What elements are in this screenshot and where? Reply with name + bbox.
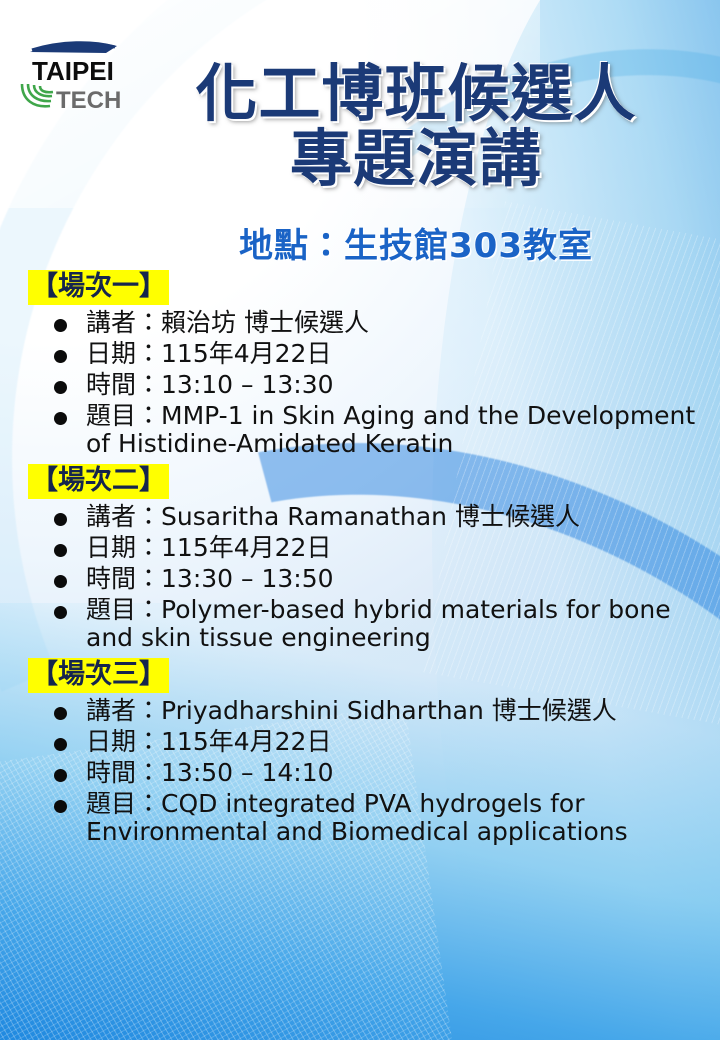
topic-value: MMP-1 in Skin Aging and the Development …: [86, 401, 695, 458]
session-details-3: 講者：Priyadharshini Sidharthan 博士候選人 日期：11…: [28, 697, 710, 846]
session-block-1: 【場次一】 講者：賴治坊 博士候選人 日期：115年4月22日 時間：13:10…: [0, 270, 720, 458]
list-item-speaker: 講者：Susaritha Ramanathan 博士候選人: [42, 503, 710, 531]
list-item-time: 時間：13:50 – 14:10: [42, 759, 710, 787]
date-label: 日期：: [86, 533, 161, 562]
logo-text-taipei: TAIPEI: [32, 56, 114, 86]
list-item-topic: 題目：MMP-1 in Skin Aging and the Developme…: [42, 402, 710, 458]
time-label: 時間：: [86, 370, 161, 399]
time-label: 時間：: [86, 564, 161, 593]
list-item-date: 日期：115年4月22日: [42, 728, 710, 756]
topic-value: CQD integrated PVA hydrogels for Environ…: [86, 789, 628, 846]
date-value: 115年4月22日: [161, 339, 331, 368]
session-details-1: 講者：賴治坊 博士候選人 日期：115年4月22日 時間：13:10 – 13:…: [28, 309, 710, 458]
speaker-label: 講者：: [86, 308, 161, 337]
session-block-3: 【場次三】 講者：Priyadharshini Sidharthan 博士候選人…: [0, 658, 720, 846]
topic-label: 題目：: [86, 789, 161, 818]
seminar-poster: TAIPEI TECH 化工博班候選人 專題演講 地點：生技館303教室 【場次…: [0, 0, 720, 1040]
time-value: 13:30 – 13:50: [161, 564, 334, 593]
list-item-topic: 題目：CQD integrated PVA hydrogels for Envi…: [42, 790, 710, 846]
date-value: 115年4月22日: [161, 533, 331, 562]
logo-text-tech: TECH: [56, 87, 121, 114]
time-label: 時間：: [86, 758, 161, 787]
speaker-label: 講者：: [86, 696, 161, 725]
topic-label: 題目：: [86, 595, 161, 624]
date-label: 日期：: [86, 727, 161, 756]
topic-value: Polymer-based hybrid materials for bone …: [86, 595, 671, 652]
list-item-time: 時間：13:30 – 13:50: [42, 565, 710, 593]
list-item-date: 日期：115年4月22日: [42, 534, 710, 562]
speaker-value: Susaritha Ramanathan 博士候選人: [161, 502, 580, 531]
session-badge-3: 【場次三】: [28, 658, 169, 693]
title-line-2: 專題演講: [120, 127, 712, 190]
poster-title: 化工博班候選人 專題演講: [120, 62, 712, 190]
date-label: 日期：: [86, 339, 161, 368]
session-badge-2: 【場次二】: [28, 464, 169, 499]
list-item-time: 時間：13:10 – 13:30: [42, 371, 710, 399]
session-block-2: 【場次二】 講者：Susaritha Ramanathan 博士候選人 日期：1…: [0, 464, 720, 652]
title-line-1: 化工博班候選人: [120, 62, 712, 125]
list-item-speaker: 講者：Priyadharshini Sidharthan 博士候選人: [42, 697, 710, 725]
green-arc-icon: [22, 84, 53, 106]
time-value: 13:10 – 13:30: [161, 370, 334, 399]
poster-content: TAIPEI TECH 化工博班候選人 專題演講 地點：生技館303教室 【場次…: [0, 0, 720, 1040]
session-badge-1: 【場次一】: [28, 270, 169, 305]
time-value: 13:50 – 14:10: [161, 758, 334, 787]
speaker-value: Priyadharshini Sidharthan 博士候選人: [161, 696, 617, 725]
speaker-value: 賴治坊 博士候選人: [161, 308, 369, 337]
list-item-date: 日期：115年4月22日: [42, 340, 710, 368]
speaker-label: 講者：: [86, 502, 161, 531]
topic-label: 題目：: [86, 401, 161, 430]
venue-line: 地點：生技館303教室: [120, 218, 712, 267]
session-list: 【場次一】 講者：賴治坊 博士候選人 日期：115年4月22日 時間：13:10…: [0, 270, 720, 849]
date-value: 115年4月22日: [161, 727, 331, 756]
list-item-topic: 題目：Polymer-based hybrid materials for bo…: [42, 596, 710, 652]
session-details-2: 講者：Susaritha Ramanathan 博士候選人 日期：115年4月2…: [28, 503, 710, 652]
list-item-speaker: 講者：賴治坊 博士候選人: [42, 309, 710, 337]
